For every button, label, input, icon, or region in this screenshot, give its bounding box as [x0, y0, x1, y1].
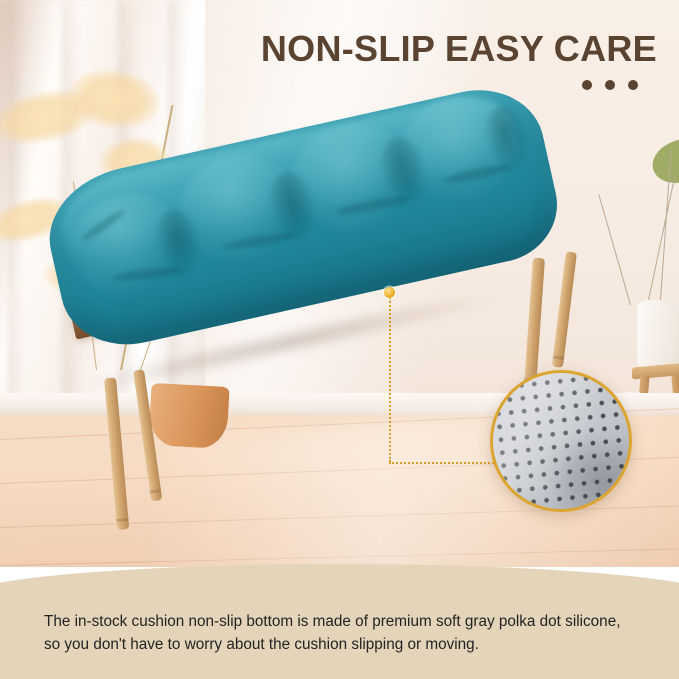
- bench-leg-back-left: [133, 369, 162, 501]
- magnifier-detail-circle: [490, 370, 632, 512]
- bench-leg-front-right: [524, 258, 545, 391]
- accent-dot-2: [605, 80, 615, 90]
- magnifier-shading: [541, 438, 632, 512]
- accent-dot-1: [582, 80, 592, 90]
- callout-pin-marker: [384, 287, 395, 298]
- accent-dot-3: [628, 80, 638, 90]
- caption-text: The in-stock cushion non-slip bottom is …: [44, 610, 635, 657]
- caption-panel-area: The in-stock cushion non-slip bottom is …: [0, 567, 679, 679]
- headline-dot-accent: [582, 80, 638, 90]
- product-marketing-image: NON-SLIP EASY CARE The in-stock cushion …: [0, 0, 679, 679]
- bench-leg-front-left: [104, 377, 129, 529]
- page-title: NON-SLIP EASY CARE: [261, 28, 657, 70]
- callout-leader-vertical: [389, 298, 391, 462]
- room-scene: [0, 0, 679, 574]
- bench-cushion: [37, 77, 568, 358]
- bench-leg-back-right: [552, 251, 577, 367]
